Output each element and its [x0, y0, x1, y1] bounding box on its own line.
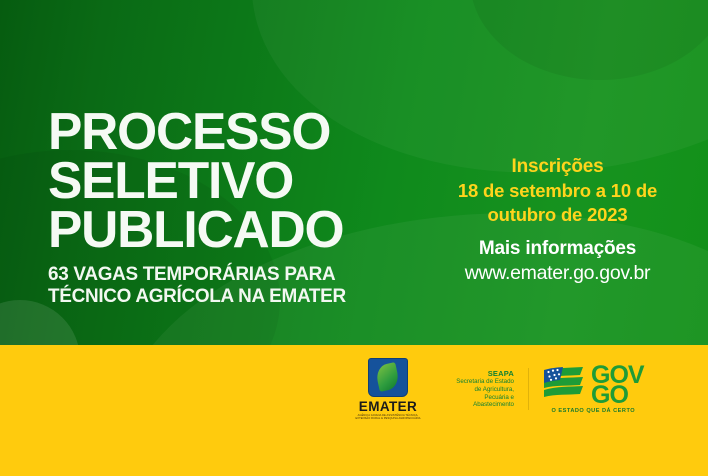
goias-flag-icon	[543, 366, 589, 404]
subheadline-line-2: TÉCNICO AGRÍCOLA NA EMATER	[48, 285, 397, 307]
logo-divider	[528, 368, 529, 410]
yellow-footer-bar: EMATER AGÊNCIA GOIANA DE ASSISTÊNCIA TÉC…	[0, 345, 708, 476]
seapa-logo: SEAPA Secretaria de Estado de Agricultur…	[444, 369, 514, 408]
emater-wordmark: EMATER	[359, 400, 417, 414]
seapa-line-1: Secretaria de Estado	[444, 378, 514, 386]
headline-line-3: PUBLICADO	[48, 206, 404, 255]
green-background-panel: PROCESSO SELETIVO PUBLICADO 63 VAGAS TEM…	[0, 0, 708, 345]
mais-informacoes-label: Mais informações	[430, 237, 685, 261]
seapa-line-4: Abastecimento	[444, 401, 514, 409]
govgo-word-bottom: GO	[591, 385, 644, 406]
headline-line-1: PROCESSO	[48, 108, 404, 157]
headline-line-2: SELETIVO	[48, 157, 404, 206]
govgo-logo: GOV GO O ESTADO QUE DÁ CERTO	[543, 365, 644, 414]
inscricoes-period-line-1: 18 de setembro a 10 de	[430, 179, 685, 203]
seapa-line-3: Pecuária e	[444, 394, 514, 402]
website-link[interactable]: www.emater.go.gov.br	[430, 261, 685, 286]
inscricoes-period-line-2: outubro de 2023	[430, 203, 685, 227]
registration-info-block: Inscrições 18 de setembro a 10 de outubr…	[430, 155, 685, 286]
emater-logo: EMATER AGÊNCIA GOIANA DE ASSISTÊNCIA TÉC…	[348, 358, 428, 421]
govgo-tagline: O ESTADO QUE DÁ CERTO	[551, 408, 635, 414]
decorative-swoosh-icon	[470, 0, 708, 80]
govgo-wordmark: GOV GO	[591, 365, 644, 406]
emater-tagline: AGÊNCIA GOIANA DE ASSISTÊNCIA TÉCNICA, E…	[350, 414, 426, 421]
footer-logo-row: EMATER AGÊNCIA GOIANA DE ASSISTÊNCIA TÉC…	[348, 357, 644, 421]
campaign-banner: PROCESSO SELETIVO PUBLICADO 63 VAGAS TEM…	[0, 0, 708, 476]
govgo-mark: GOV GO	[543, 365, 644, 406]
emater-shield-leaf-icon	[368, 358, 408, 397]
inscricoes-label: Inscrições	[430, 155, 685, 179]
seapa-line-2: de Agricultura,	[444, 386, 514, 394]
headline-block: PROCESSO SELETIVO PUBLICADO 63 VAGAS TEM…	[48, 108, 408, 307]
subheadline-line-1: 63 VAGAS TEMPORÁRIAS PARA	[48, 263, 397, 285]
seapa-acronym: SEAPA	[444, 369, 514, 378]
